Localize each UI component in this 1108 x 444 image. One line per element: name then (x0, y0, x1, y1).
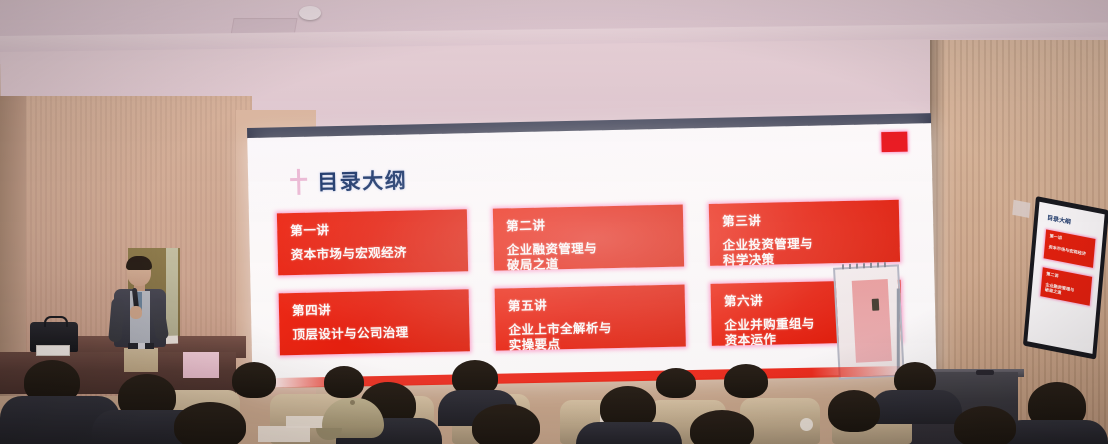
bag-handle (44, 316, 68, 327)
audience-shoulders (1000, 420, 1108, 444)
presenter-belt-buckle (138, 343, 145, 349)
cap-button (350, 400, 355, 405)
screen-surface: 目录大纲 第一讲 资本市场与宏观经济 第二讲 企业融资管理与 破局之道 第三讲 … (247, 123, 936, 388)
desk-label-card (36, 345, 70, 356)
audience-area (0, 360, 1108, 444)
audience-shoulders (576, 422, 682, 444)
audience-head (954, 406, 1016, 444)
agenda-card-number: 第四讲 (292, 300, 456, 317)
agenda-grid: 第一讲 资本市场与宏观经济 第二讲 企业融资管理与 破局之道 第三讲 企业投资管… (277, 200, 912, 356)
audience-head (690, 410, 754, 444)
agenda-card: 第二讲 企业融资管理与 破局之道 (493, 205, 684, 271)
audience-head (324, 366, 364, 398)
audience-head (656, 368, 696, 398)
wall-monitor: 目录大纲 第一讲 资本市场与宏观经济 第二讲 企业融资管理与 破局之道 (1023, 196, 1108, 360)
presentation-room-scene: 目录大纲 第一讲 资本市场与宏观经济 第二讲 企业融资管理与 破局之道 第三讲 … (0, 0, 1108, 444)
presenter-hair (126, 256, 152, 270)
seat-number-tag (800, 418, 813, 431)
agenda-card-number: 第三讲 (722, 211, 886, 228)
agenda-card-title: 企业上市全解析与 实操要点 (508, 319, 673, 353)
audience-shoulders (870, 390, 962, 424)
flipchart-reflection (852, 279, 892, 363)
presenter (108, 258, 174, 368)
slide-logo-mark (881, 132, 907, 153)
monitor-slide-title: 目录大纲 (1047, 212, 1071, 226)
monitor-screen: 目录大纲 第一讲 资本市场与宏观经济 第二讲 企业融资管理与 破局之道 (1027, 202, 1104, 354)
agenda-card: 第三讲 企业投资管理与 科学决策 (709, 200, 900, 266)
agenda-card-number: 第五讲 (508, 296, 672, 313)
audience-head (472, 404, 540, 444)
audience-head (724, 364, 768, 398)
agenda-card: 第四讲 顶层设计与公司治理 (279, 289, 470, 355)
monitor-card-title: 资本市场与宏观经济 (1048, 245, 1090, 258)
presenter-hand (130, 306, 142, 319)
monitor-agenda-card: 第二讲 企业融资管理与 破局之道 (1040, 267, 1092, 305)
audience-head (232, 362, 276, 398)
monitor-agenda-card: 第一讲 资本市场与宏观经济 (1044, 229, 1096, 267)
seat-handout (258, 426, 310, 442)
agenda-card-title: 顶层设计与公司治理 (292, 323, 456, 342)
cross-ornament-icon (290, 169, 308, 195)
wall-plate (1012, 200, 1030, 218)
projection-screen: 目录大纲 第一讲 资本市场与宏观经济 第二讲 企业融资管理与 破局之道 第三讲 … (247, 113, 937, 388)
slide-title: 目录大纲 (317, 165, 408, 197)
audience-head (828, 390, 880, 432)
audience-head (174, 402, 246, 444)
left-wall-edge (0, 96, 26, 396)
agenda-card: 第一讲 资本市场与宏观经济 (277, 209, 468, 275)
agenda-card-number: 第一讲 (290, 221, 454, 238)
monitor-card-title: 企业融资管理与 破局之道 (1045, 283, 1087, 300)
agenda-card: 第五讲 企业上市全解析与 实操要点 (495, 284, 686, 350)
agenda-card-title: 企业融资管理与 破局之道 (507, 239, 672, 273)
agenda-card-title: 资本市场与宏观经济 (291, 243, 455, 262)
agenda-card-number: 第二讲 (506, 216, 670, 233)
slide-title-row: 目录大纲 (290, 165, 408, 198)
flipchart-knob (872, 299, 880, 311)
smoke-detector-icon (299, 6, 321, 20)
